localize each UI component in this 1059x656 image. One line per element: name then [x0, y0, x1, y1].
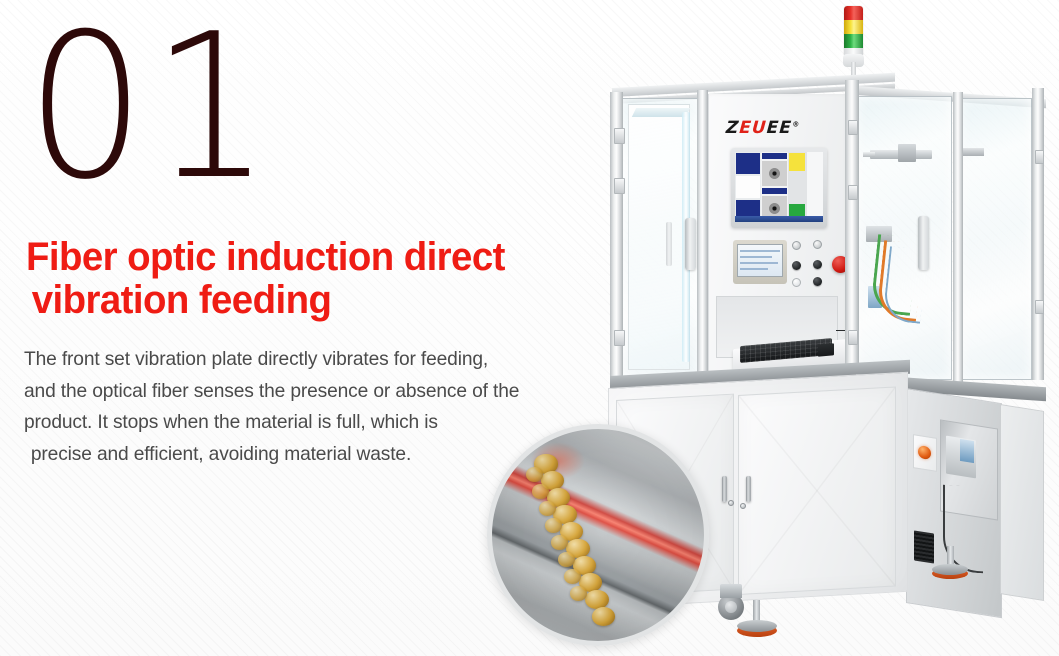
tower-light-red [844, 6, 863, 21]
frame-post-left-mid [697, 90, 708, 382]
actuator-rail-secondary [962, 148, 984, 156]
door-hinge-5 [848, 185, 858, 200]
screen-panel-white-1 [736, 176, 760, 199]
actuator-carriage [898, 144, 916, 162]
logo-trademark: ® [792, 120, 801, 128]
cabinet-handle-right[interactable] [746, 476, 751, 502]
logo-part-2: EU [739, 118, 768, 138]
enclosure-door-handle-left-inner[interactable] [666, 222, 672, 266]
cabinet-door-right[interactable] [738, 386, 896, 595]
exhaust-vent-grille [914, 530, 934, 563]
enclosure-door-handle-left[interactable] [685, 218, 696, 270]
door-hinge-8 [1035, 300, 1044, 314]
page-title: Fiber optic induction direct vibration f… [26, 236, 602, 322]
cabinet-lock-right[interactable] [740, 503, 746, 509]
caster-bracket [720, 584, 742, 598]
push-button-2[interactable] [813, 260, 822, 269]
hmi-touch-screen[interactable] [737, 244, 783, 277]
headline-line-2: vibration feeding [26, 279, 602, 322]
push-button-1[interactable] [792, 261, 801, 270]
door-hinge-4 [848, 120, 858, 135]
body-line-2: and the optical fiber senses the presenc… [24, 376, 635, 408]
inset-vignette [492, 429, 704, 641]
cabinet-door-right-sheen [739, 387, 895, 593]
body-line-1: The front set vibration plate directly v… [24, 344, 635, 376]
screen-column-inspection [761, 152, 788, 222]
enclosure-glass-panel-side [960, 98, 1032, 380]
caster-hub [725, 601, 737, 613]
section-number: 01 [26, 8, 277, 208]
door-hinge-6 [848, 330, 858, 345]
actuator-rod [863, 152, 875, 157]
screen-taskbar [735, 216, 823, 222]
tower-light-yellow [844, 20, 863, 35]
screen-bar-blue-1 [762, 153, 787, 159]
push-button-white[interactable] [792, 278, 801, 287]
enclosure-door-handle-right[interactable] [918, 216, 929, 270]
screen-column-params [807, 152, 823, 222]
leveling-foot-pad-1 [737, 620, 777, 632]
cabinet-lock-left[interactable] [728, 500, 734, 506]
tower-light-green [844, 34, 863, 49]
cabinet-handle-left[interactable] [722, 476, 727, 502]
screen-panel-blue-1 [736, 153, 760, 174]
screen-column-status [788, 152, 807, 222]
air-regulator-bowl [960, 439, 974, 463]
door-hinge-7 [1035, 150, 1044, 164]
signal-tower-icon [844, 6, 863, 56]
selector-switch-2[interactable] [813, 240, 822, 249]
screen-bar-blue-2 [762, 188, 787, 194]
leveling-foot-pad-2 [932, 564, 968, 575]
logo-part-3: EE [766, 118, 793, 138]
screen-column-camera-views [735, 152, 761, 222]
brand-logo: ZEUEE® [725, 118, 818, 138]
headline-line-1: Fiber optic induction direct [26, 235, 505, 279]
screen-part-image-1 [762, 161, 787, 186]
screen-status-yellow [789, 153, 806, 171]
frame-post-right-mid [953, 92, 963, 382]
cabinet-side-panel-rear [1000, 404, 1044, 601]
touchpad[interactable] [818, 343, 834, 356]
frame-post-right [1032, 88, 1044, 380]
push-button-4[interactable] [813, 277, 822, 286]
selector-switch-1[interactable] [792, 241, 801, 250]
vision-software-screen[interactable] [735, 152, 823, 222]
inset-closeup-photo [487, 424, 709, 646]
